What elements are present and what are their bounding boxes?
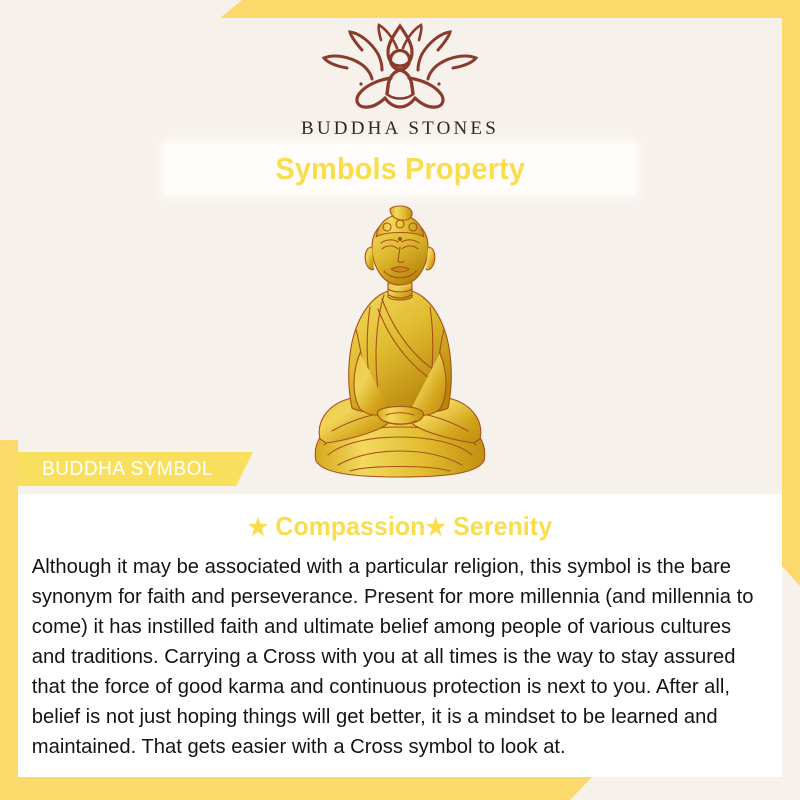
page-title: Symbols Property — [275, 151, 525, 187]
content-panel: ★ Compassion★ Serenity Although it may b… — [18, 494, 782, 777]
section-ribbon-label: BUDDHA SYMBOL — [42, 458, 213, 481]
section-ribbon: BUDDHA SYMBOL — [18, 452, 253, 486]
poster-canvas: BUDDHA STONES Symbols Property — [0, 0, 800, 800]
subtitle-word-serenity: Serenity — [453, 511, 552, 541]
decor-band-left — [0, 440, 18, 800]
decor-band-top — [220, 0, 800, 18]
subtitle-word-compassion: Compassion — [275, 511, 425, 541]
brand-header: BUDDHA STONES — [0, 22, 800, 140]
brand-name: BUDDHA STONES — [0, 118, 800, 140]
lotus-meditation-figure-icon — [315, 22, 485, 114]
seated-golden-buddha-statue-icon — [290, 203, 510, 488]
star-icon-left: ★ — [248, 514, 269, 541]
decor-band-bottom — [0, 777, 592, 800]
title-banner: Symbols Property — [165, 144, 635, 194]
content-subtitle: ★ Compassion★ Serenity — [37, 494, 763, 542]
star-icon-right: ★ — [426, 514, 447, 541]
body-paragraph: Although it may be associated with a par… — [18, 542, 771, 762]
